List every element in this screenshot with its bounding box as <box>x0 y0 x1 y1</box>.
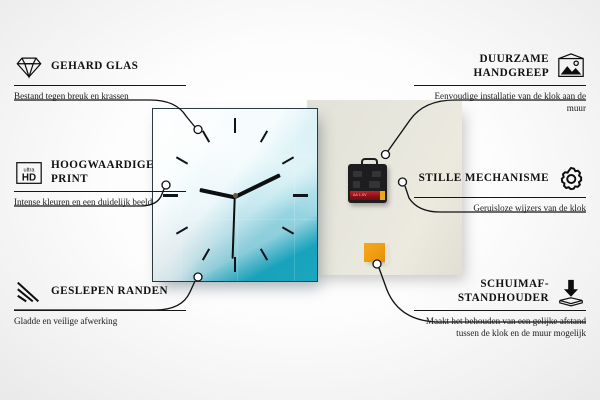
feature-divider <box>414 85 586 86</box>
down-arrow-onto-surface-icon <box>556 277 586 307</box>
mechanism-notch <box>353 181 360 188</box>
tick-2 <box>282 156 294 164</box>
tick-11 <box>202 130 210 142</box>
feature-foam-spacer: SCHUIMAF-STANDHOUDER Maakt het behouden … <box>414 277 586 339</box>
feature-durable-hanger: DUURZAME HANDGREEP Eenvoudige installati… <box>414 52 586 114</box>
battery-label: AA 1.5V <box>353 193 367 197</box>
connector-tempered-glass <box>14 100 195 127</box>
feature-title: GESLEPEN RANDEN <box>51 285 168 299</box>
feature-hd-print: ultra HD HOOGWAARDIGE PRINT Intense kleu… <box>14 158 186 208</box>
feature-divider <box>14 310 186 311</box>
feature-title: STILLE MECHANISME <box>419 172 549 186</box>
clock-mechanism: AA 1.5V <box>348 164 387 203</box>
feature-description: Maakt het behouden van een gelijke afsta… <box>414 315 586 339</box>
feature-header: DUURZAME HANDGREEP <box>414 52 586 82</box>
feature-header: GEHARD GLAS <box>14 52 186 82</box>
connector-dot-tempered-glass <box>194 126 202 134</box>
connector-dot-foam-spacer <box>373 260 381 268</box>
mechanism-notch <box>353 171 362 177</box>
connector-dot-durable-hanger <box>382 151 390 159</box>
picture-frame-icon <box>556 52 586 82</box>
aa-battery: AA 1.5V <box>350 191 385 200</box>
gear-icon <box>556 164 586 194</box>
tick-1 <box>260 130 268 142</box>
feature-title: HOOGWAARDIGE PRINT <box>51 159 186 186</box>
tick-7 <box>202 248 210 260</box>
feature-description: Intense kleuren en een duidelijk beeld <box>14 196 186 208</box>
feature-description: Eenvoudige installatie van de klok aan d… <box>414 90 586 114</box>
feature-header: ultra HD HOOGWAARDIGE PRINT <box>14 158 186 188</box>
feature-header: GESLEPEN RANDEN <box>14 277 186 307</box>
foam-spacer-pad <box>364 243 385 262</box>
feature-description: Geruisloze wijzers van de klok <box>414 202 586 214</box>
tick-3 <box>293 194 308 197</box>
diamond-icon <box>14 52 44 82</box>
feature-header: STILLE MECHANISME <box>414 164 586 194</box>
feature-silent-mechanism: STILLE MECHANISME Geruisloze wijzers van… <box>414 164 586 214</box>
tick-5 <box>260 248 268 260</box>
diagonal-lines-icon <box>14 277 44 307</box>
feature-description: Gladde en veilige afwerking <box>14 315 186 327</box>
tick-4 <box>282 226 294 234</box>
feature-tempered-glass: GEHARD GLAS Bestand tegen breuk en krass… <box>14 52 186 102</box>
hour-hand <box>199 188 235 200</box>
second-hand <box>232 197 236 259</box>
mechanism-notch <box>372 171 381 177</box>
battery-positive-terminal <box>380 191 385 200</box>
connector-dot-ground-edges <box>194 273 202 281</box>
mechanism-notch <box>369 181 380 188</box>
minute-hand <box>234 174 281 200</box>
foam-spacer-side <box>385 246 389 265</box>
hanger-hook-icon <box>361 158 378 169</box>
connector-dot-silent-mechanism <box>399 178 407 186</box>
feature-divider <box>414 197 586 198</box>
feature-title: DUURZAME HANDGREEP <box>414 53 549 80</box>
tick-12 <box>234 118 236 133</box>
product-infographic: AA 1.5V <box>0 0 600 400</box>
feature-divider <box>14 85 186 86</box>
feature-title: GEHARD GLAS <box>51 60 138 74</box>
ultra-hd-icon: ultra HD <box>14 158 44 188</box>
tick-8 <box>176 226 188 234</box>
feature-divider <box>414 310 586 311</box>
feature-description: Bestand tegen breuk en krassen <box>14 90 186 102</box>
tick-6 <box>234 257 236 272</box>
feature-title: SCHUIMAF-STANDHOUDER <box>414 278 549 305</box>
svg-text:HD: HD <box>22 173 36 184</box>
feature-ground-edges: GESLEPEN RANDEN Gladde en veilige afwerk… <box>14 277 186 327</box>
feature-header: SCHUIMAF-STANDHOUDER <box>414 277 586 307</box>
hand-center-cap <box>233 193 238 198</box>
feature-divider <box>14 191 186 192</box>
